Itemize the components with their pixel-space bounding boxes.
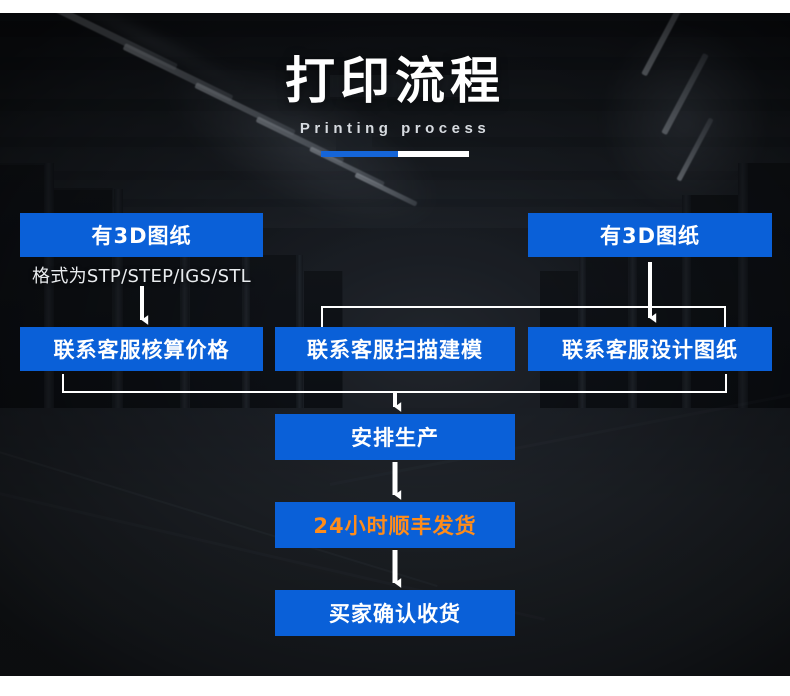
flow-node-label: 买家确认收货: [329, 598, 461, 628]
flow-node-label: 24小时顺丰发货: [313, 510, 476, 540]
flow-node-arrange-production[interactable]: 安排生产: [275, 414, 515, 460]
flow-chart: 有3D图纸 有3D图纸 格式为STP/STEP/IGS/STL 联系客服核算价格…: [0, 0, 790, 696]
flow-node-contact-service-design-drawing[interactable]: 联系客服设计图纸: [528, 327, 772, 371]
flow-node-contact-service-scan-model[interactable]: 联系客服扫描建模: [275, 327, 515, 371]
format-note-caption: 格式为STP/STEP/IGS/STL: [20, 262, 263, 288]
top-white-band: [0, 0, 790, 13]
flow-node-has-3d-drawing-right[interactable]: 有3D图纸: [528, 213, 772, 257]
flow-node-label: 有3D图纸: [600, 220, 700, 250]
flow-node-label: 有3D图纸: [91, 220, 191, 250]
flow-node-label: 联系客服核算价格: [54, 334, 230, 364]
flow-node-label: 安排生产: [351, 422, 439, 452]
flow-node-buyer-confirm-receipt[interactable]: 买家确认收货: [275, 590, 515, 636]
bottom-white-band: [0, 676, 790, 696]
flow-node-label: 联系客服设计图纸: [562, 334, 738, 364]
flow-node-ship-24h-sf[interactable]: 24小时顺丰发货: [275, 502, 515, 548]
flow-node-contact-service-quote[interactable]: 联系客服核算价格: [20, 327, 263, 371]
flow-node-label: 联系客服扫描建模: [307, 334, 483, 364]
flow-node-has-3d-drawing-left[interactable]: 有3D图纸: [20, 213, 263, 257]
promo-flowchart-banner: 打印流程 Printing process 有3D图纸: [0, 0, 790, 696]
